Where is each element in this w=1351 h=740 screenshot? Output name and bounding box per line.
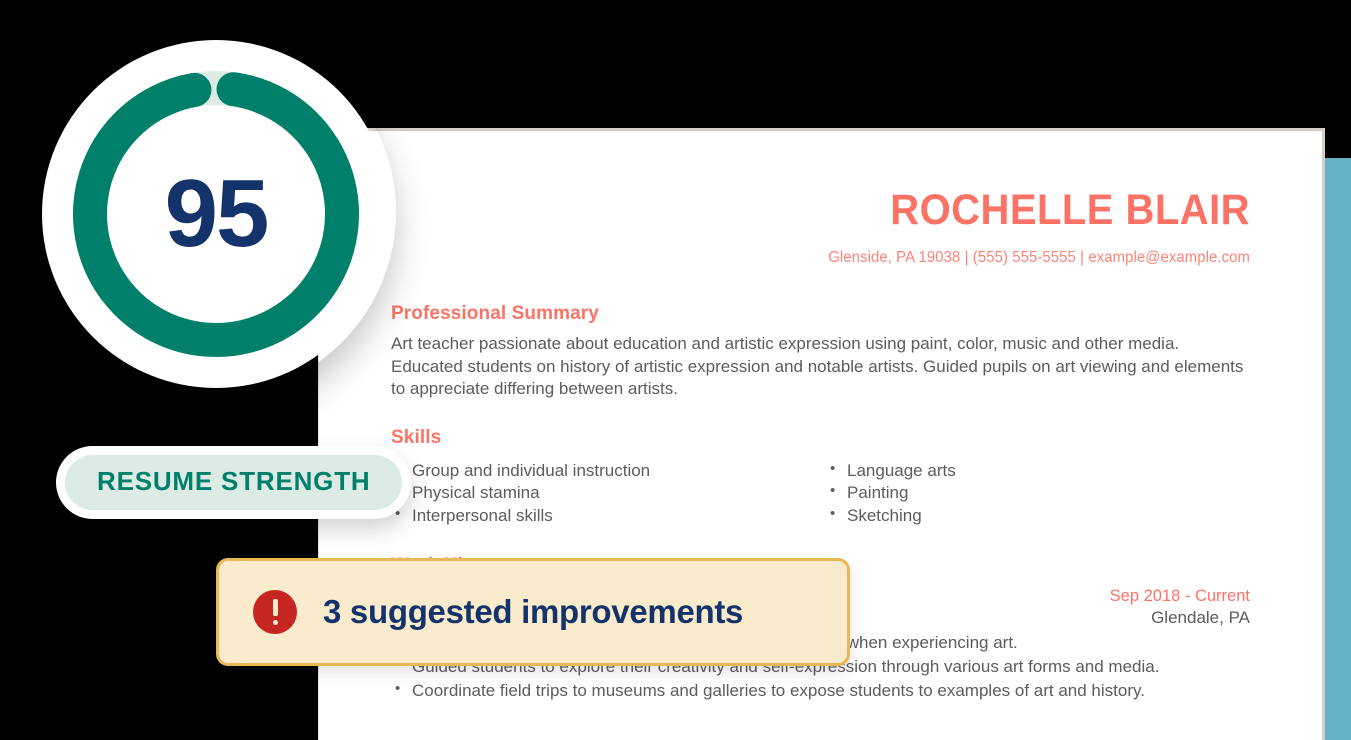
suggested-improvements-text: 3 suggested improvements [323,593,743,631]
screenshot-canvas: ROCHELLE BLAIR Glenside, PA 19038 | (555… [0,0,1351,740]
resume-candidate-name: ROCHELLE BLAIR [451,189,1250,232]
section-heading-skills: Skills [391,427,1250,449]
skill-item: Group and individual instruction [391,460,826,482]
resume-strength-label: RESUME STRENGTH [65,455,402,510]
resume-strength-pill: RESUME STRENGTH [56,446,411,519]
skill-item: Sketching [826,505,1261,527]
job-location: Glendale, PA [1110,607,1250,630]
job-meta: Sep 2018 - Current Glendale, PA [1110,585,1250,630]
skill-item: Physical stamina [391,482,826,504]
skills-column-left: Group and individual instruction Physica… [391,460,826,527]
skills-column-right: Language arts Painting Sketching [826,460,1261,527]
skill-item: Language arts [826,460,1261,482]
job-bullet: Coordinate field trips to museums and ga… [391,680,1211,703]
section-heading-professional-summary: Professional Summary [391,303,1250,325]
alert-exclamation-icon [253,590,297,634]
skill-item: Interpersonal skills [391,505,826,527]
resume-score-widget[interactable]: 95 [20,18,410,408]
skills-columns: Group and individual instruction Physica… [391,460,1261,527]
score-value-text: 95 [42,40,390,388]
professional-summary-body: Art teacher passionate about education a… [391,333,1253,401]
teal-accent-bar [1325,158,1351,740]
resume-contact-line: Glenside, PA 19038 | (555) 555-5555 | ex… [425,249,1250,267]
skill-item: Painting [826,482,1261,504]
suggested-improvements-banner[interactable]: 3 suggested improvements [216,558,850,666]
job-dates: Sep 2018 - Current [1110,585,1250,607]
